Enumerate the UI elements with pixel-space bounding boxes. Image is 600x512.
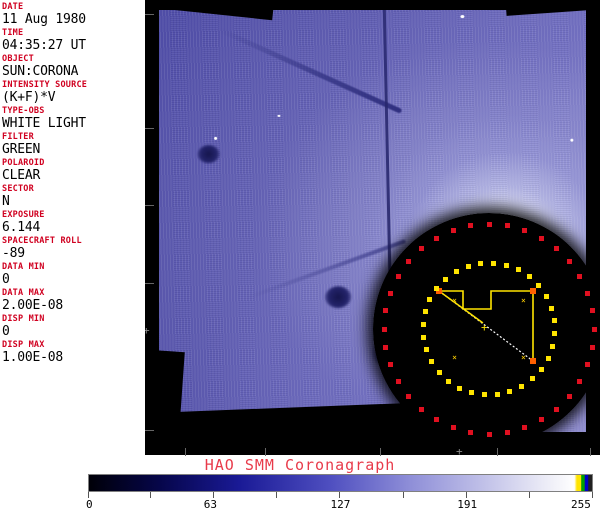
fiducial-dot-inner [427, 297, 432, 302]
fiducial-dot-inner [429, 359, 434, 364]
disk-center-crosshair: + [481, 323, 488, 332]
metadata-field: SECTORN [2, 184, 145, 209]
metadata-field: FILTERGREEN [2, 132, 145, 157]
coronagraph-image: + ×××× + [145, 0, 600, 455]
metadata-value: CLEAR [2, 168, 145, 183]
fiducial-dot-inner [469, 390, 474, 395]
metadata-label: EXPOSURE [2, 210, 145, 220]
fiducial-dot-outer [554, 407, 559, 412]
metadata-label: DISP MIN [2, 314, 145, 324]
fiducial-dot-outer [406, 259, 411, 264]
fiducial-dot-inner [539, 367, 544, 372]
metadata-label: SPACECRAFT ROLL [2, 236, 145, 246]
fiducial-dot-inner [536, 283, 541, 288]
colorbar-gradient [89, 475, 592, 491]
fiducial-dot-outer [396, 274, 401, 279]
metadata-field: DATA MAX2.00E-08 [2, 288, 145, 313]
fiducial-dot-outer [539, 236, 544, 241]
metadata-panel: DATE11 Aug 1980TIME04:35:27 UTOBJECTSUN:… [0, 0, 145, 455]
metadata-value: N [2, 194, 145, 209]
fiducial-dot-inner [530, 376, 535, 381]
fiducial-dot-inner [421, 335, 426, 340]
fiducial-dot-inner [527, 274, 532, 279]
metadata-value: -89 [2, 246, 145, 261]
fiducial-dot-inner [546, 356, 551, 361]
metadata-field: SPACECRAFT ROLL-89 [2, 236, 145, 261]
colorbar-tick-label: 255 [571, 498, 591, 511]
metadata-value: 1.00E-08 [2, 350, 145, 365]
fiducial-dot-outer [468, 430, 473, 435]
coronagraph-screenshot: DATE11 Aug 1980TIME04:35:27 UTOBJECTSUN:… [0, 0, 600, 512]
metadata-value: 0 [2, 272, 145, 287]
axis-tick-left [145, 128, 154, 129]
fiducial-dot-inner [504, 263, 509, 268]
axis-tick-left [145, 430, 154, 431]
fiducial-dot-inner [478, 261, 483, 266]
metadata-value: (K+F)*V [2, 90, 145, 105]
colorbar [88, 474, 593, 492]
fiducial-cross-marker: × [451, 354, 458, 361]
metadata-label: INTENSITY SOURCE [2, 80, 145, 90]
fiducial-dot-inner [552, 331, 557, 336]
fiducial-dot-inner [552, 318, 557, 323]
fiducial-dot-outer [396, 379, 401, 384]
occulting-disk: + ×××× [373, 213, 600, 445]
bright-speck [570, 139, 573, 142]
fiducial-dot-outer [383, 345, 388, 350]
axis-tick-left [145, 14, 154, 15]
metadata-label: DATA MIN [2, 262, 145, 272]
fiducial-cross-marker: × [451, 297, 458, 304]
fiducial-dot-outer [522, 425, 527, 430]
fiducial-dot-outer [592, 327, 597, 332]
metadata-field: POLAROIDCLEAR [2, 158, 145, 183]
metadata-value: 6.144 [2, 220, 145, 235]
fiducial-dot-inner [466, 264, 471, 269]
metadata-label: SECTOR [2, 184, 145, 194]
fiducial-dot-outer [567, 394, 572, 399]
metadata-label: OBJECT [2, 54, 145, 64]
fiducial-dot-inner [491, 261, 496, 266]
fiducial-dot-outer [554, 246, 559, 251]
fiducial-cross-marker: × [520, 297, 527, 304]
fiducial-dot-inner [421, 322, 426, 327]
fiducial-dot-outer [434, 417, 439, 422]
metadata-value: 0 [2, 324, 145, 339]
fiducial-dot-outer [419, 407, 424, 412]
metadata-label: DATA MAX [2, 288, 145, 298]
fiducial-dot-outer [577, 379, 582, 384]
metadata-field: DATE11 Aug 1980 [2, 2, 145, 27]
fiducial-dot-inner [437, 370, 442, 375]
fiducial-dot-outer [522, 228, 527, 233]
fiducial-dot-outer [487, 222, 492, 227]
fiducial-dot-outer [388, 291, 393, 296]
bright-speck [214, 137, 217, 140]
fiducial-dot-outer [468, 223, 473, 228]
metadata-field: TYPE-OBSWHITE LIGHT [2, 106, 145, 131]
colorbar-tick-label: 63 [204, 498, 217, 511]
metadata-field: EXPOSURE6.144 [2, 210, 145, 235]
colorbar-tick-label: 127 [330, 498, 350, 511]
fiducial-dot-outer [388, 362, 393, 367]
fiducial-dot-outer [487, 432, 492, 437]
page-title: HAO SMM Coronagraph [0, 455, 600, 475]
fiducial-dot-outer [567, 259, 572, 264]
axis-fiducial-left: + [145, 326, 150, 335]
fiducial-dot-inner [549, 306, 554, 311]
fiducial-dot-inner [544, 294, 549, 299]
metadata-label: TIME [2, 28, 145, 38]
fiducial-cross-marker: × [520, 354, 527, 361]
fiducial-dot-inner [550, 344, 555, 349]
fiducial-dot-inner [516, 267, 521, 272]
fiducial-dot-inner [434, 286, 439, 291]
fiducial-dot-inner [443, 277, 448, 282]
fiducial-dot-outer [590, 345, 595, 350]
metadata-label: FILTER [2, 132, 145, 142]
fiducial-dot-outer [505, 223, 510, 228]
metadata-label: POLAROID [2, 158, 145, 168]
metadata-field: OBJECTSUN:CORONA [2, 54, 145, 79]
colorbar-tick-label: 0 [86, 498, 93, 511]
metadata-value: WHITE LIGHT [2, 116, 145, 131]
fiducial-dot-inner [457, 386, 462, 391]
fiducial-dot-inner [519, 384, 524, 389]
fiducial-dot-inner [446, 379, 451, 384]
metadata-value: GREEN [2, 142, 145, 157]
metadata-field: DISP MAX1.00E-08 [2, 340, 145, 365]
metadata-value: 2.00E-08 [2, 298, 145, 313]
fiducial-dot-outer [419, 246, 424, 251]
axis-tick-left [145, 283, 154, 284]
metadata-label: DATE [2, 2, 145, 12]
fiducial-dot-inner [423, 309, 428, 314]
metadata-field: DATA MIN0 [2, 262, 145, 287]
fiducial-dot-outer [434, 236, 439, 241]
metadata-field: INTENSITY SOURCE(K+F)*V [2, 80, 145, 105]
colorbar-labels: 063127191255 [0, 498, 600, 512]
fiducial-dot-outer [451, 425, 456, 430]
axis-tick-left [145, 205, 154, 206]
fiducial-dot-outer [577, 274, 582, 279]
fiducial-dot-inner [495, 392, 500, 397]
fiducial-dot-outer [505, 430, 510, 435]
metadata-label: DISP MAX [2, 340, 145, 350]
fiducial-dot-outer [585, 291, 590, 296]
metadata-label: TYPE-OBS [2, 106, 145, 116]
fiducial-dot-inner [424, 347, 429, 352]
fiducial-dot-inner [507, 389, 512, 394]
fiducial-dot-inner [482, 392, 487, 397]
metadata-value: 11 Aug 1980 [2, 12, 145, 27]
fiducial-dot-outer [539, 417, 544, 422]
metadata-value: SUN:CORONA [2, 64, 145, 79]
metadata-value: 04:35:27 UT [2, 38, 145, 53]
metadata-field: TIME04:35:27 UT [2, 28, 145, 53]
fiducial-dot-outer [383, 308, 388, 313]
fiducial-dot-outer [590, 308, 595, 313]
fiducial-dot-outer [406, 394, 411, 399]
fiducial-dot-inner [454, 269, 459, 274]
fiducial-dot-outer [451, 228, 456, 233]
metadata-field: DISP MIN0 [2, 314, 145, 339]
fiducial-dot-outer [382, 327, 387, 332]
fiducial-dot-outer [585, 362, 590, 367]
colorbar-tick-label: 191 [457, 498, 477, 511]
